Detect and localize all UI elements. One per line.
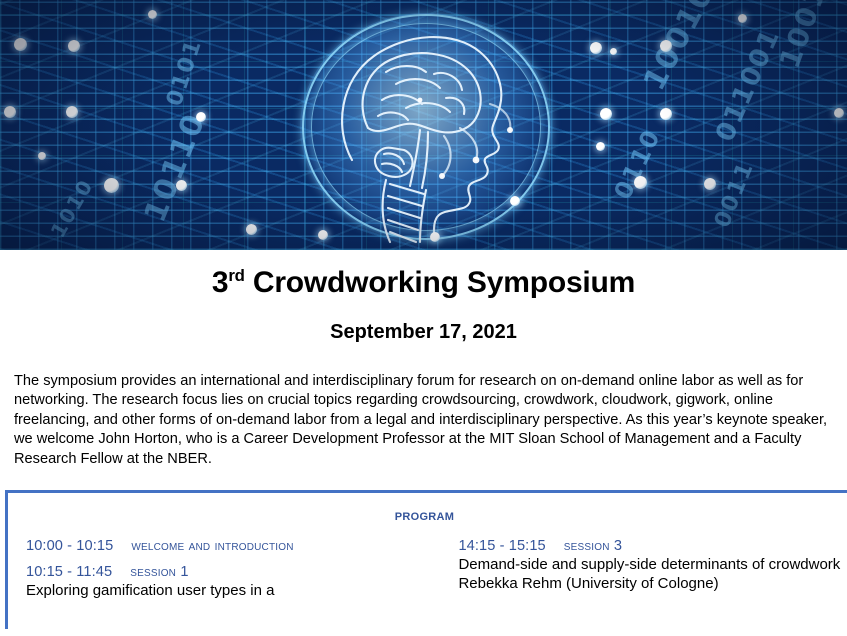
program-section: Program 10:00 - 10:15Welcome and introdu… xyxy=(5,490,847,629)
program-slot-time: 10:00 - 10:15 xyxy=(26,538,113,554)
header-banner-image: 10110 0101 10010 011001 1001 0110 1010 0… xyxy=(0,0,847,250)
program-slot-label: Session 3 xyxy=(564,538,622,554)
program-slot-time: 14:15 - 15:15 xyxy=(458,538,545,554)
program-slot: 10:00 - 10:15Welcome and introduction xyxy=(26,538,436,554)
event-date: September 17, 2021 xyxy=(0,321,847,344)
program-slot-header: 10:00 - 10:15Welcome and introduction xyxy=(26,538,436,554)
program-slot-header: 10:15 - 11:45Session 1 xyxy=(26,564,436,580)
program-slot-label: Session 1 xyxy=(130,564,188,580)
program-slot-label: Welcome and introduction xyxy=(131,538,293,554)
banner-vignette xyxy=(0,0,847,250)
title-ordinal-suffix: rd xyxy=(228,266,244,285)
title-ordinal-number: 3 xyxy=(212,266,229,299)
intro-paragraph: The symposium provides an international … xyxy=(14,372,833,469)
program-columns: 10:00 - 10:15Welcome and introduction 10… xyxy=(8,538,847,610)
program-column-left: 10:00 - 10:15Welcome and introduction 10… xyxy=(8,538,436,610)
program-slot-header: 14:15 - 15:15Session 3 xyxy=(458,538,847,554)
program-slot: 10:15 - 11:45Session 1 Exploring gamific… xyxy=(26,564,436,600)
program-slot: 14:15 - 15:15Session 3 Demand-side and s… xyxy=(458,538,847,594)
program-slot-time: 10:15 - 11:45 xyxy=(26,564,112,580)
title-main-text: Crowdworking Symposium xyxy=(245,266,635,299)
program-column-right: 14:15 - 15:15Session 3 Demand-side and s… xyxy=(436,538,847,610)
program-slot-speaker: Rebekka Rehm (University of Cologne) xyxy=(458,575,847,593)
program-slot-title: Exploring gamification user types in a xyxy=(26,582,436,600)
program-heading: Program xyxy=(8,507,847,524)
page-title: 3rd Crowdworking Symposium xyxy=(0,266,847,299)
program-slot-title: Demand-side and supply-side determinants… xyxy=(458,556,847,574)
